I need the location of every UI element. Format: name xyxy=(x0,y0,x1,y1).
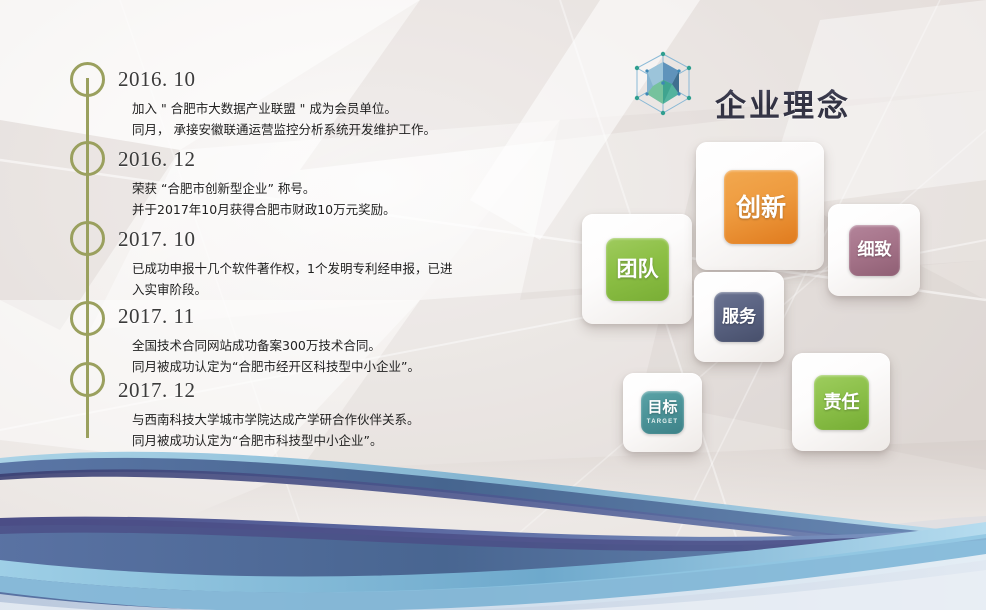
concept-card-group: 团队 创新 细致 服务 目标 TARGET xyxy=(560,120,986,470)
timeline-date: 2016. 12 xyxy=(118,148,396,171)
polyhedron-network-icon xyxy=(627,50,699,118)
concept-header: 企业理念 xyxy=(627,48,927,118)
timeline-text-line: 与西南科技大学城市学院达成产学研合作伙伴关系。 xyxy=(132,409,420,430)
timeline-date: 2017. 12 xyxy=(118,379,420,402)
slide-page: 2016. 10 加入 " 合肥市大数据产业联盟 " 成为会员单位。 同月， 承… xyxy=(0,0,986,610)
concept-card-label: 细致 xyxy=(858,242,892,259)
timeline-node-4[interactable] xyxy=(70,301,105,336)
concept-card-sublabel: TARGET xyxy=(647,419,678,425)
timeline-text-line: 入实审阶段。 xyxy=(132,279,452,300)
concept-card-meticulous[interactable]: 细致 xyxy=(828,204,920,296)
concept-tile: 创新 xyxy=(724,170,798,244)
concept-tile: 目标 TARGET xyxy=(641,391,684,434)
timeline-text-line: 全国技术合同网站成功备案300万技术合同。 xyxy=(132,335,420,356)
timeline-entry-1: 2016. 10 加入 " 合肥市大数据产业联盟 " 成为会员单位。 同月， 承… xyxy=(118,68,436,140)
timeline-date: 2017. 10 xyxy=(118,228,452,251)
timeline-entry-2: 2016. 12 荣获 “合肥市创新型企业” 称号。 并于2017年10月获得合… xyxy=(118,148,396,220)
timeline-text-line: 同月被成功认定为“合肥市经开区科技型中小企业”。 xyxy=(132,356,420,377)
timeline-date: 2017. 11 xyxy=(118,305,420,328)
concept-card-team[interactable]: 团队 xyxy=(582,214,692,324)
concept-tile: 责任 xyxy=(814,375,869,430)
timeline-text-line: 已成功申报十几个软件著作权，1个发明专利经申报，已进 xyxy=(132,258,452,279)
concept-card-label: 创新 xyxy=(736,195,786,220)
concept-card-label: 责任 xyxy=(824,394,860,412)
concept-card-innovation[interactable]: 创新 xyxy=(696,142,824,270)
concept-card-service[interactable]: 服务 xyxy=(694,272,784,362)
concept-card-label: 团队 xyxy=(617,259,659,280)
timeline-entry-4: 2017. 11 全国技术合同网站成功备案300万技术合同。 同月被成功认定为“… xyxy=(118,305,420,377)
timeline-node-3[interactable] xyxy=(70,221,105,256)
concept-card-label: 服务 xyxy=(722,309,756,326)
timeline-text-line: 同月， 承接安徽联通运营监控分析系统开发维护工作。 xyxy=(132,119,436,140)
timeline-text-line: 并于2017年10月获得合肥市财政10万元奖励。 xyxy=(132,199,396,220)
timeline-text-line: 加入 " 合肥市大数据产业联盟 " 成为会员单位。 xyxy=(132,98,436,119)
page-title: 企业理念 xyxy=(715,81,851,126)
timeline-date: 2016. 10 xyxy=(118,68,436,91)
timeline-node-5[interactable] xyxy=(70,362,105,397)
concept-tile: 团队 xyxy=(606,238,669,301)
timeline-text-line: 荣获 “合肥市创新型企业” 称号。 xyxy=(132,178,396,199)
decorative-wave-footer xyxy=(0,430,986,610)
timeline-node-2[interactable] xyxy=(70,141,105,176)
timeline-entry-3: 2017. 10 已成功申报十几个软件著作权，1个发明专利经申报，已进 入实审阶… xyxy=(118,228,452,300)
timeline-node-1[interactable] xyxy=(70,62,105,97)
concept-tile: 服务 xyxy=(714,292,764,342)
concept-tile: 细致 xyxy=(849,225,900,276)
timeline: 2016. 10 加入 " 合肥市大数据产业联盟 " 成为会员单位。 同月， 承… xyxy=(0,0,520,470)
concept-card-label: 目标 xyxy=(647,400,677,415)
